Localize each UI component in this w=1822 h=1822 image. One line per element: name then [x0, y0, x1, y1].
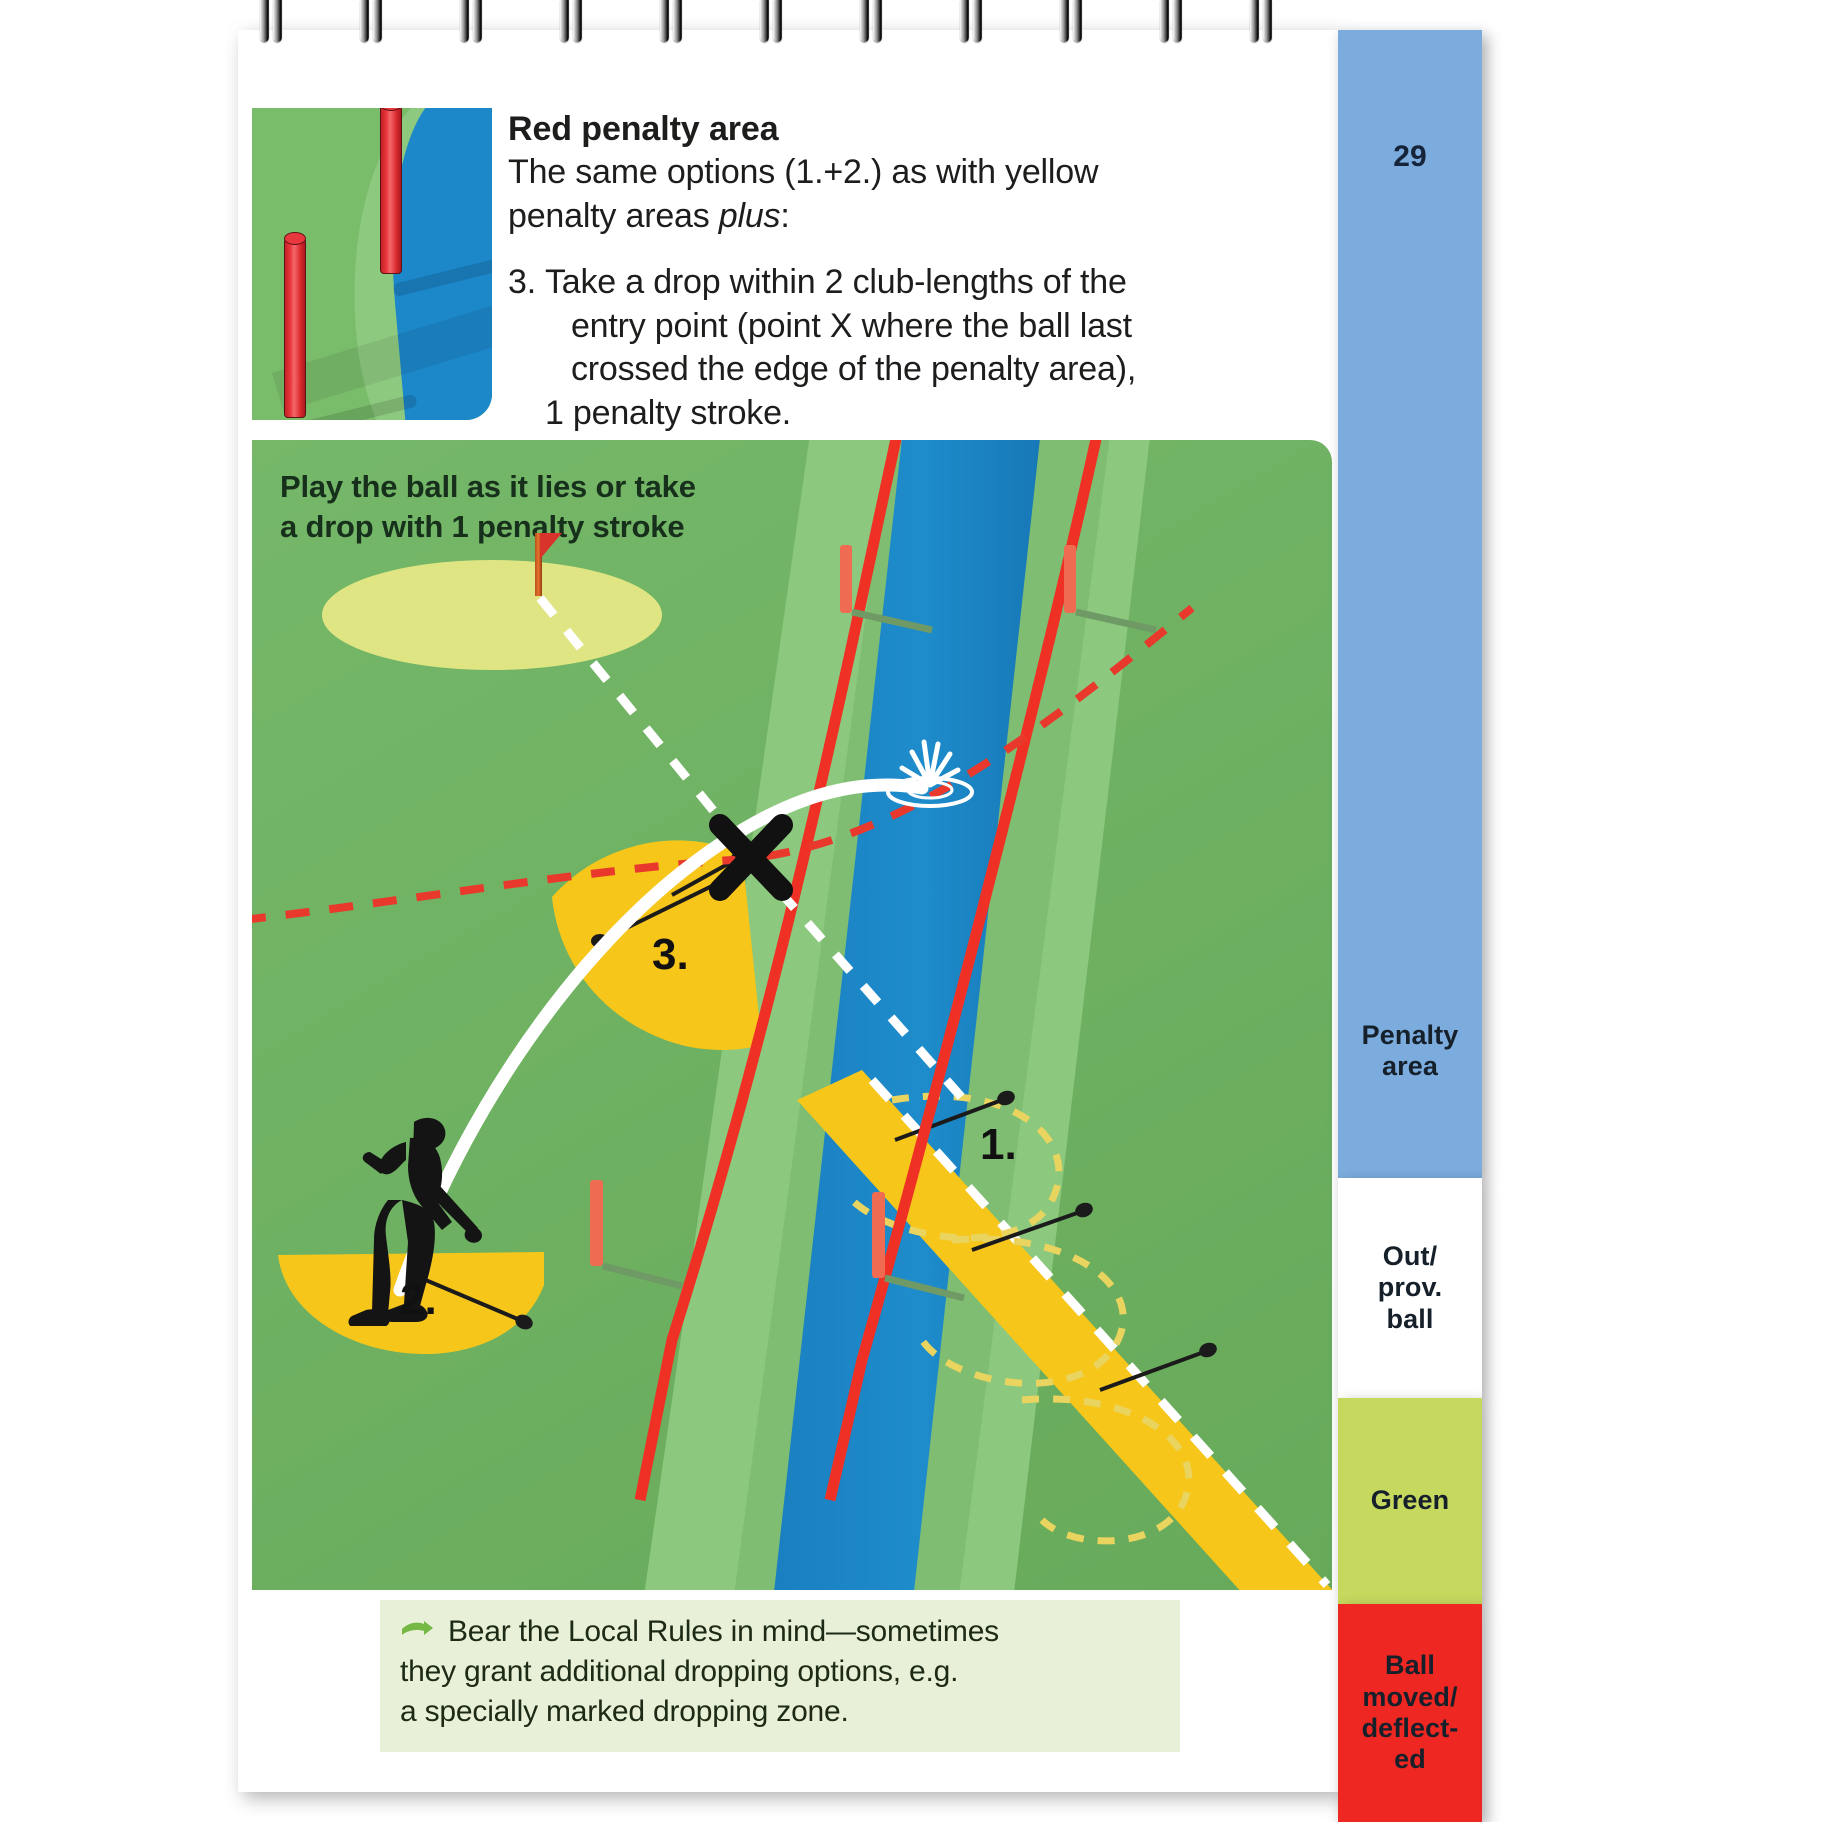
- note-line-1: Bear the Local Rules in mind—sometimes: [400, 1612, 1160, 1652]
- index-tab-green[interactable]: Green: [1338, 1398, 1482, 1604]
- index-tab-penalty-area-label: Penalty area: [1338, 1020, 1482, 1083]
- red-stakes-thumbnail: [252, 108, 492, 420]
- spiral-binding: [238, 0, 1338, 46]
- penalty-area-diagram: Play the ball as it lies or take a drop …: [252, 440, 1332, 1590]
- note-line-3: a specially marked dropping zone.: [400, 1692, 1160, 1732]
- option-1-label: 1.: [980, 1120, 1017, 1170]
- index-tab-out-prov-ball[interactable]: Out/ prov. ball: [1338, 1178, 1482, 1398]
- page-number: 29: [1338, 140, 1482, 175]
- intro-line-2: penalty areas plus:: [508, 195, 1188, 239]
- article-text: Red penalty area The same options (1.+2.…: [508, 110, 1188, 436]
- diagram-graphics: [252, 440, 1332, 1590]
- red-stake-icon: [380, 108, 402, 274]
- index-tab-green-label: Green: [1371, 1485, 1450, 1516]
- index-tab-ball-moved-deflected[interactable]: Ball moved/ deflect- ed: [1338, 1604, 1482, 1822]
- option-3-label: 3.: [652, 930, 689, 980]
- list-item-number: 3.: [508, 261, 545, 436]
- page-title: Red penalty area: [508, 110, 1188, 149]
- local-rules-note: Bear the Local Rules in mind—sometimes t…: [380, 1600, 1180, 1752]
- list-item-option-3: 3. Take a drop within 2 club-lengths of …: [508, 261, 1188, 436]
- red-stake-icon: [284, 238, 306, 418]
- list-item-text: Take a drop within 2 club-lengths of the…: [545, 261, 1188, 436]
- intro-line-1: The same options (1.+2.) as with yellow: [508, 151, 1188, 195]
- index-tab-penalty-area[interactable]: 29 Penalty area: [1338, 30, 1482, 1178]
- index-tab-strip: 29 Penalty area Out/ prov. ball Green Ba…: [1338, 30, 1482, 1792]
- index-tab-out-prov-ball-label: Out/ prov. ball: [1378, 1241, 1443, 1335]
- note-line-2: they grant additional dropping options, …: [400, 1652, 1160, 1692]
- option-2-label: 2.: [400, 1275, 437, 1325]
- index-tab-ball-moved-deflected-label: Ball moved/ deflect- ed: [1362, 1650, 1459, 1775]
- pointing-hand-icon: [400, 1620, 438, 1644]
